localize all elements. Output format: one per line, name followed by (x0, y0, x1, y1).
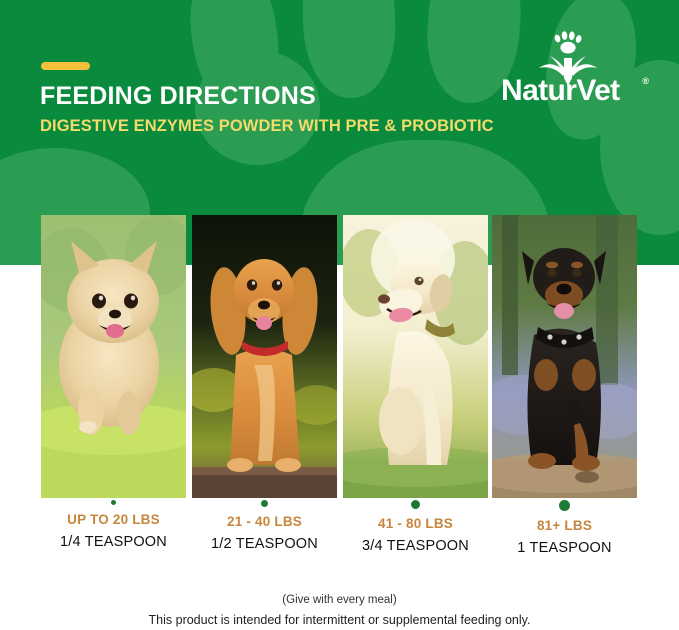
dosage-column-4: 81+ LBS 1 TEASPOON (492, 500, 637, 557)
footer-disclaimer: This product is intended for intermitten… (0, 611, 679, 630)
page-title: FEEDING DIRECTIONS (40, 84, 316, 109)
dosage-weight-label: 81+ LBS (492, 519, 637, 534)
dosage-row: UP TO 20 LBS 1/4 TEASPOON 21 - 40 LBS 1/… (0, 500, 679, 570)
dosage-amount-label: 1/4 TEASPOON (41, 535, 186, 551)
dosage-column-1: UP TO 20 LBS 1/4 TEASPOON (41, 500, 186, 551)
dog-photo-labrador (343, 215, 488, 498)
dog-photo-rottweiler (492, 215, 637, 498)
dosage-weight-label: UP TO 20 LBS (41, 513, 186, 528)
dosage-amount-label: 1 TEASPOON (492, 541, 637, 557)
size-indicator-dot (411, 500, 420, 509)
dosage-weight-label: 41 - 80 LBS (343, 517, 488, 532)
dog-photo-row (0, 215, 679, 500)
dosage-amount-label: 3/4 TEASPOON (343, 539, 488, 555)
footer-give-with-meal: (Give with every meal) (0, 592, 679, 609)
dosage-amount-label: 1/2 TEASPOON (192, 537, 337, 553)
dosage-weight-label: 21 - 40 LBS (192, 515, 337, 530)
logo-wordmark: NaturVet (501, 74, 620, 102)
dog-photo-cocker-spaniel (192, 215, 337, 498)
size-indicator-dot (111, 500, 116, 505)
dosage-column-3: 41 - 80 LBS 3/4 TEASPOON (343, 500, 488, 555)
logo-mark-icon: NaturVet (501, 30, 651, 102)
registered-trademark-icon: ® (642, 76, 649, 86)
page-subtitle: DIGESTIVE ENZYMES POWDER WITH PRE & PROB… (40, 116, 494, 137)
size-indicator-dot (559, 500, 570, 511)
size-indicator-dot (261, 500, 268, 507)
dosage-column-2: 21 - 40 LBS 1/2 TEASPOON (192, 500, 337, 553)
footer-notes: (Give with every meal) This product is i… (0, 592, 679, 630)
accent-dash (41, 62, 90, 70)
dog-photo-pomeranian (41, 215, 186, 498)
naturvet-logo: NaturVet ® (501, 30, 651, 120)
